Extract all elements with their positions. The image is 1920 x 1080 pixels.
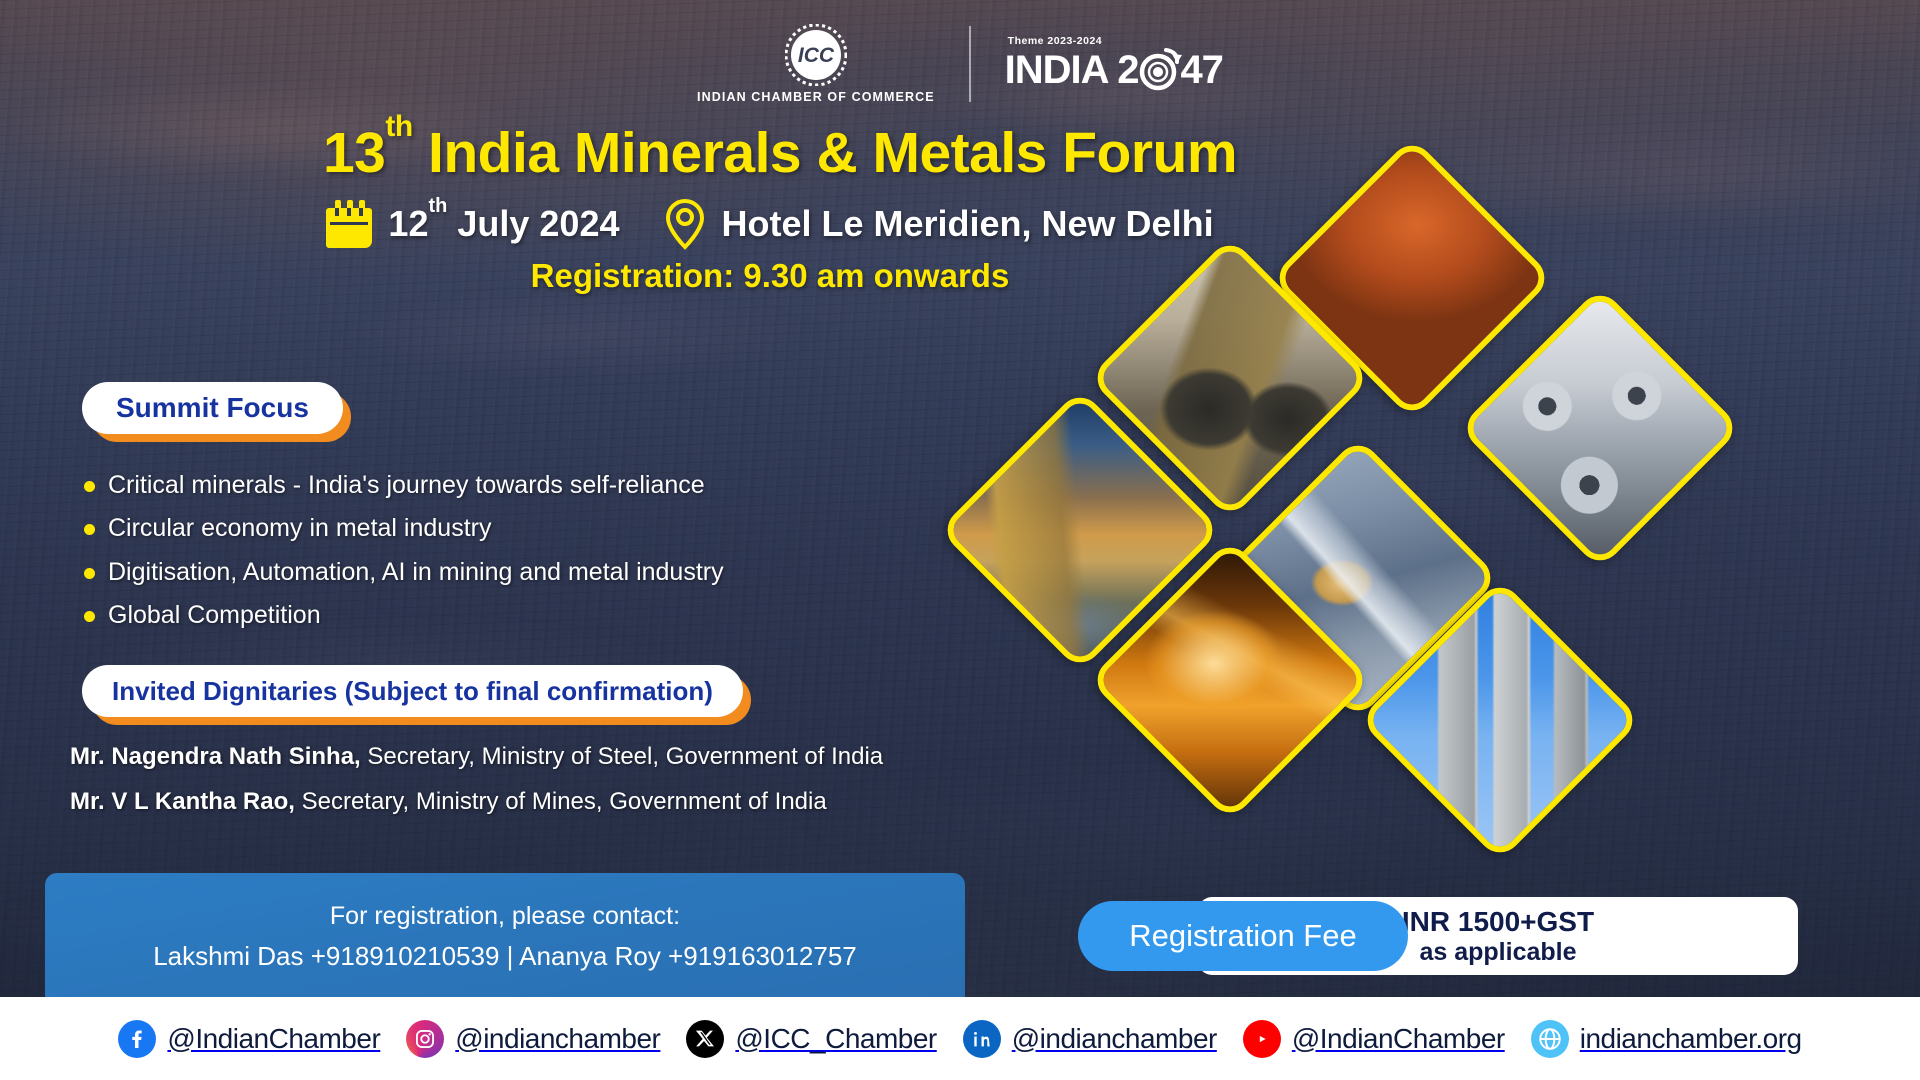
ashoka-wheel-icon [1136,47,1182,93]
dignitary-role: Secretary, Ministry of Steel, Government… [361,743,883,770]
social-link-instagram[interactable]: @indianchamber [406,1020,660,1058]
globe-icon [1531,1020,1569,1058]
title-ordinal: 13 [323,121,385,185]
list-item: Circular economy in metal industry [84,513,984,544]
logo-divider [969,26,971,102]
social-link-website[interactable]: indianchamber.org [1531,1020,1802,1058]
list-item: Digitisation, Automation, AI in mining a… [84,557,984,588]
dignitaries-list: Mr. Nagendra Nath Sinha, Secretary, Mini… [70,745,1080,835]
poster-header: ICC INDIAN CHAMBER OF COMMERCE Theme 202… [0,14,1920,114]
list-item: Critical minerals - India's journey towa… [84,470,984,501]
fee-note: as applicable [1419,938,1576,966]
instagram-handle: @indianchamber [455,1023,660,1055]
invited-dignitaries-badge: Invited Dignitaries (Subject to final co… [82,665,743,717]
bullet-dot-icon [84,568,95,579]
social-link-youtube[interactable]: @IndianChamber [1243,1020,1505,1058]
theme-label: Theme 2023-2024 [1008,35,1102,47]
location-pin-icon [665,198,705,250]
youtube-handle: @IndianChamber [1292,1023,1505,1055]
summit-focus-item: Critical minerals - India's journey towa… [108,470,705,501]
linkedin-handle: @indianchamber [1012,1023,1217,1055]
india-2047-prefix: INDIA 2 [1005,50,1139,90]
social-footer: @IndianChamber @indianchamber @ICC_Chamb… [0,997,1920,1080]
summit-focus-badge: Summit Focus [82,382,343,434]
contact-heading: For registration, please contact: [330,902,680,931]
youtube-icon [1243,1020,1281,1058]
social-link-linkedin[interactable]: @indianchamber [963,1020,1217,1058]
icc-logo: ICC INDIAN CHAMBER OF COMMERCE [697,24,935,104]
social-link-facebook[interactable]: @IndianChamber [118,1020,380,1058]
fee-amount: INR 1500+GST [1402,906,1594,937]
list-item: Mr. Nagendra Nath Sinha, Secretary, Mini… [70,745,1080,769]
facebook-icon [118,1020,156,1058]
bullet-dot-icon [84,611,95,622]
dignitary-name: Mr. V L Kantha Rao, [70,788,295,815]
website-handle: indianchamber.org [1580,1023,1802,1055]
summit-focus-item: Digitisation, Automation, AI in mining a… [108,557,724,588]
list-item: Global Competition [84,600,984,631]
title-ordinal-suffix: th [385,110,412,143]
india-2047-suffix: 47 [1180,50,1223,90]
facebook-handle: @IndianChamber [167,1023,380,1055]
icc-org-name: INDIAN CHAMBER OF COMMERCE [697,90,935,104]
list-item: Mr. V L Kantha Rao, Secretary, Ministry … [70,790,1080,814]
event-date-block: 12th July 2024 [326,200,619,248]
calendar-icon [326,200,372,248]
india-2047-logo: Theme 2023-2024 INDIA 2 47 [1005,35,1223,93]
dignitary-name: Mr. Nagendra Nath Sinha, [70,743,361,770]
linkedin-icon [963,1020,1001,1058]
event-date: 12th July 2024 [388,203,619,245]
summit-focus-item: Circular economy in metal industry [108,513,491,544]
summit-focus-list: Critical minerals - India's journey towa… [84,470,984,643]
registration-fee-block: INR 1500+GST as applicable Registration … [1078,897,1798,975]
bullet-dot-icon [84,524,95,535]
registration-contact-box: For registration, please contact: Lakshm… [45,873,965,1000]
contact-details: Lakshmi Das +918910210539 | Ananya Roy +… [153,941,857,972]
dignitary-role: Secretary, Ministry of Mines, Government… [295,788,827,815]
instagram-icon [406,1020,444,1058]
registration-fee-label: Registration Fee [1078,901,1408,971]
image-collage [1000,160,1920,780]
icc-gear-icon: ICC [785,24,847,86]
x-handle: @ICC_Chamber [735,1023,936,1055]
social-link-x[interactable]: @ICC_Chamber [686,1020,936,1058]
x-twitter-icon [686,1020,724,1058]
bullet-dot-icon [84,481,95,492]
event-poster: ICC INDIAN CHAMBER OF COMMERCE Theme 202… [0,0,1920,1080]
summit-focus-item: Global Competition [108,600,321,631]
svg-text:ICC: ICC [798,44,835,67]
